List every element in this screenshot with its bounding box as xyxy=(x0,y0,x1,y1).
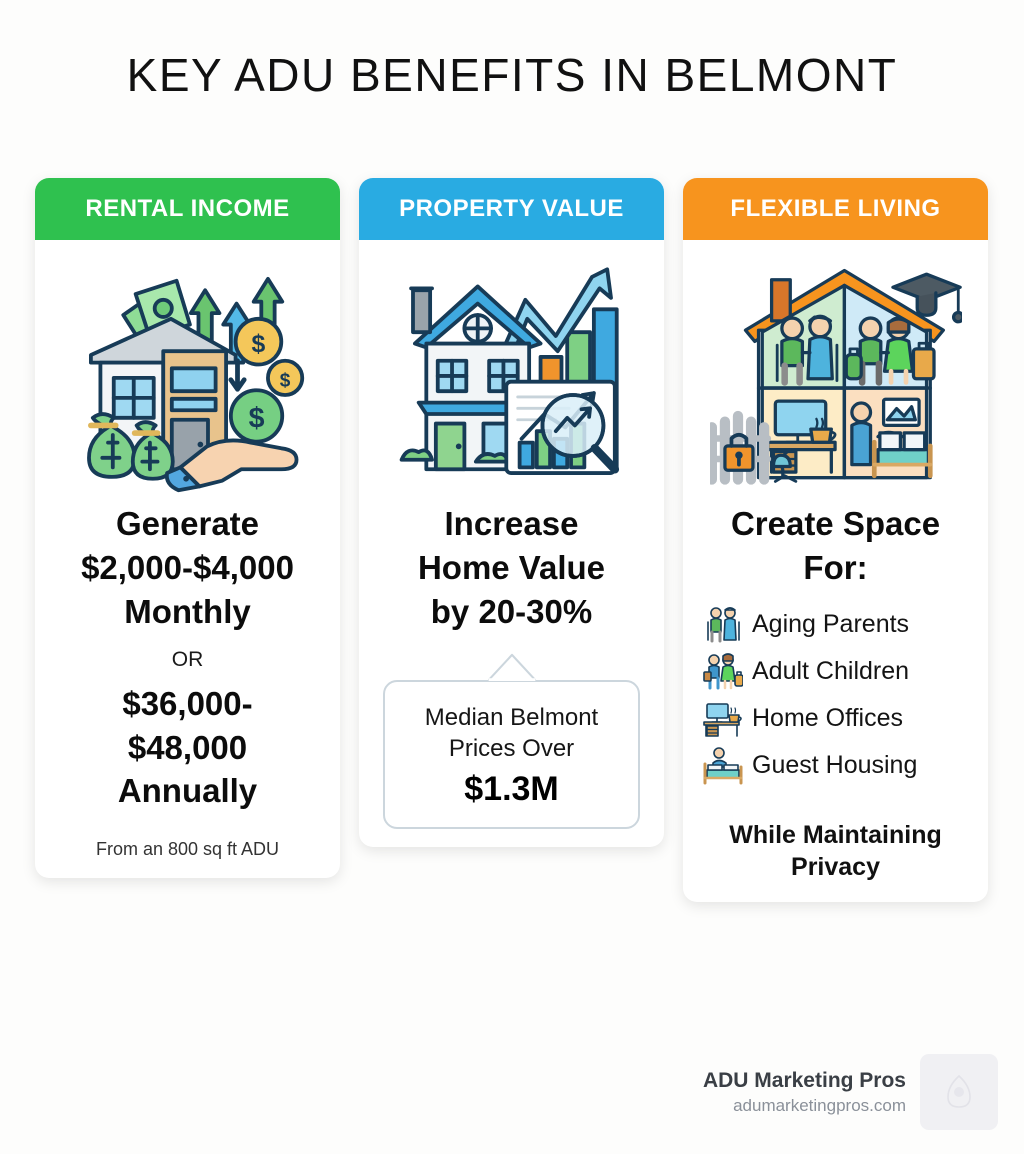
headline-line: Create Space xyxy=(731,502,940,546)
headline-line: For: xyxy=(731,546,940,590)
headline-line: Generate xyxy=(81,502,294,546)
headline-line: Monthly xyxy=(81,590,294,634)
headline-line: Home Value xyxy=(418,546,605,590)
list-item-label: Home Offices xyxy=(752,704,903,733)
card-header-rental-income: RENTAL INCOME xyxy=(35,178,340,240)
list-item-label: Guest Housing xyxy=(752,751,917,780)
callout-value: $1.3M xyxy=(395,770,628,809)
card-headline-flexible-living: Create Space For: xyxy=(731,502,940,590)
card-headline-rental-income: Generate $2,000-$4,000 Monthly xyxy=(81,502,294,634)
headline-line: Annually xyxy=(118,769,257,813)
placeholder-logo-icon xyxy=(942,1072,976,1112)
couple-with-luggage-icon xyxy=(703,652,743,692)
list-item-label: Aging Parents xyxy=(752,610,909,639)
card-body-property-value: Increase Home Value by 20-30% Median Bel… xyxy=(359,240,664,847)
closing-line: While Maintaining xyxy=(729,819,942,852)
headline-line: $2,000-$4,000 xyxy=(81,546,294,590)
flexible-living-list: Aging Parents xyxy=(697,598,974,793)
median-price-callout: Median Belmont Prices Over $1.3M xyxy=(383,680,640,829)
closing-line: Privacy xyxy=(729,851,942,884)
callout-line-1: Median Belmont xyxy=(395,702,628,733)
house-growth-chart-illustration xyxy=(386,256,638,494)
card-headline2-rental-income: $36,000- $48,000 Annually xyxy=(118,682,257,814)
card-header-flexible-living: FLEXIBLE LIVING xyxy=(683,178,988,240)
card-rental-income[interactable]: RENTAL INCOME xyxy=(35,178,340,878)
list-item[interactable]: Aging Parents xyxy=(703,605,974,645)
house-cutaway-rooms-illustration xyxy=(710,256,962,494)
card-body-rental-income: $ $ $ Generate $2,000-$4,000 Monthly OR xyxy=(35,240,340,878)
or-separator: OR xyxy=(172,648,204,672)
headline-line: $36,000- xyxy=(118,682,257,726)
house-money-hand-illustration: $ $ $ xyxy=(62,256,314,494)
brand-name: ADU Marketing Pros xyxy=(703,1069,906,1093)
card-flexible-living[interactable]: FLEXIBLE LIVING xyxy=(683,178,988,902)
svg-text:$: $ xyxy=(251,331,265,358)
card-headline-property-value: Increase Home Value by 20-30% xyxy=(418,502,605,634)
callout-tail-icon xyxy=(485,653,539,681)
svg-text:$: $ xyxy=(248,402,264,434)
elderly-couple-icon xyxy=(703,605,743,645)
footer: ADU Marketing Pros adumarketingpros.com xyxy=(703,1054,998,1130)
callout-line-2: Prices Over xyxy=(395,733,628,764)
svg-text:$: $ xyxy=(279,370,290,391)
person-in-bed-icon xyxy=(703,746,743,786)
card-closing-flexible-living: While Maintaining Privacy xyxy=(729,819,942,884)
card-property-value[interactable]: PROPERTY VALUE xyxy=(359,178,664,847)
footer-text: ADU Marketing Pros adumarketingpros.com xyxy=(703,1069,906,1116)
list-item[interactable]: Home Offices xyxy=(703,699,974,739)
card-body-flexible-living: Create Space For: xyxy=(683,240,988,902)
page-title: KEY ADU BENEFITS IN BELMONT xyxy=(0,48,1024,102)
headline-line: Increase xyxy=(418,502,605,546)
brand-website: adumarketingpros.com xyxy=(703,1096,906,1116)
list-item[interactable]: Guest Housing xyxy=(703,746,974,786)
headline-line: $48,000 xyxy=(118,726,257,770)
list-item-label: Adult Children xyxy=(752,657,909,686)
list-item[interactable]: Adult Children xyxy=(703,652,974,692)
headline-line: by 20-30% xyxy=(418,590,605,634)
card-footnote-rental-income: From an 800 sq ft ADU xyxy=(96,839,279,860)
desk-computer-icon xyxy=(703,699,743,739)
card-header-property-value: PROPERTY VALUE xyxy=(359,178,664,240)
placeholder-logo xyxy=(920,1054,998,1130)
benefit-cards-container: RENTAL INCOME xyxy=(35,178,989,902)
